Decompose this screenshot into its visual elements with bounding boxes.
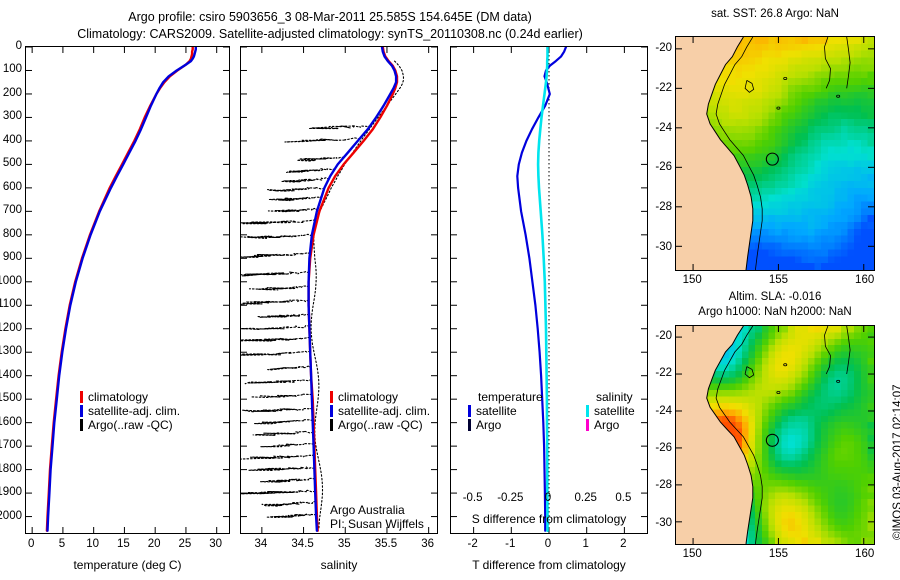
salinity-axis-label: salinity	[240, 558, 438, 572]
legend-label: satellite-adj. clim.	[88, 404, 180, 418]
s-diff-tick-1: -0.25	[497, 492, 523, 504]
sla-lat-tick-4: -28	[628, 479, 672, 491]
t-diff-tick-1: -1	[505, 538, 515, 550]
depth-tick-7: 700	[0, 204, 22, 216]
sla-lat-tick-3: -26	[628, 442, 672, 454]
depth-tick-8: 800	[0, 228, 22, 240]
temperature-tick-1: 5	[59, 538, 65, 550]
legend-swatch-icon	[330, 419, 333, 431]
legend-swatch-icon	[330, 405, 333, 417]
temperature-tick-3: 15	[117, 538, 130, 550]
temperature-tick-4: 20	[148, 538, 161, 550]
sla-map-title-line1: Altim. SLA: -0.016	[660, 291, 890, 303]
sst-lat-tick-3: -26	[628, 161, 672, 173]
sla-lon-tick-0: 150	[683, 548, 702, 560]
t-diff-tick-2: 0	[545, 538, 551, 550]
t-diff-tick-0: -2	[467, 538, 477, 550]
s-difference-axis-label: S difference from climatology	[450, 512, 648, 526]
legend-swatch-icon	[80, 391, 83, 403]
legend-label: satellite-adj. clim.	[338, 404, 430, 418]
depth-tick-5: 500	[0, 157, 22, 169]
salinity-tick-3: 35.5	[375, 538, 397, 550]
sla-map-title-line2: Argo h1000: NaN h2000: NaN	[660, 306, 890, 318]
sla-lat-tick-2: -24	[628, 405, 672, 417]
depth-tick-18: 1800	[0, 463, 22, 475]
legend-swatch-icon	[80, 419, 83, 431]
t-diff-tick-3: 1	[582, 538, 588, 550]
sst-lat-tick-1: -22	[628, 82, 672, 94]
legend-label: Argo	[476, 418, 501, 432]
sst-map-title: sat. SST: 26.8 Argo: NaN	[660, 8, 890, 20]
legend-item-0: climatology	[330, 390, 430, 404]
t-difference-axis-label: T difference from climatology	[450, 558, 648, 572]
temperature-plot-area	[26, 47, 229, 533]
depth-tick-14: 1400	[0, 369, 22, 381]
s-diff-tick-4: 0.5	[615, 492, 631, 504]
legend-label: Argo(..raw -QC)	[338, 418, 423, 432]
sst-lat-tick-5: -30	[628, 241, 672, 253]
legend-swatch-icon	[330, 391, 333, 403]
sla-lon-tick-2: 160	[855, 548, 874, 560]
sla-lat-tick-5: -30	[628, 517, 672, 529]
legend-label: climatology	[338, 390, 398, 404]
legend-item-1: satellite-adj. clim.	[80, 404, 180, 418]
temperature-axis-label: temperature (deg C)	[25, 558, 230, 572]
legend-label: Argo	[594, 418, 619, 432]
legend-label: climatology	[88, 390, 148, 404]
depth-tick-15: 1500	[0, 392, 22, 404]
salinity-tick-2: 35	[338, 538, 351, 550]
sst-lon-tick-1: 155	[769, 274, 788, 286]
legend-label: Argo(..raw -QC)	[88, 418, 173, 432]
sla-lat-tick-0: -20	[628, 330, 672, 342]
depth-tick-6: 600	[0, 181, 22, 193]
legend-item-1: satellite-adj. clim.	[330, 404, 430, 418]
legend-swatch-icon	[586, 419, 589, 431]
depth-tick-20: 2000	[0, 510, 22, 522]
difference-panel	[450, 46, 648, 534]
depth-tick-16: 1600	[0, 416, 22, 428]
sla-lat-tick-1: -22	[628, 367, 672, 379]
depth-tick-0: 0	[0, 40, 22, 52]
salinity-panel	[240, 46, 438, 534]
sla-map-panel	[675, 325, 875, 545]
s-diff-tick-3: 0.25	[574, 492, 596, 504]
page-title-line2: Climatology: CARS2009. Satellite-adjuste…	[20, 27, 640, 41]
page-title-line1: Argo profile: csiro 5903656_3 08-Mar-201…	[20, 10, 640, 24]
credit-line1: Argo Australia	[330, 503, 405, 518]
salinity-legend: climatologysatellite-adj. clim.Argo(..ra…	[330, 390, 430, 432]
legend-swatch-icon	[468, 405, 471, 417]
depth-tick-12: 1200	[0, 322, 22, 334]
legend-item-2: Argo(..raw -QC)	[80, 418, 180, 432]
depth-tick-11: 1100	[0, 298, 22, 310]
sst-map-panel	[675, 36, 875, 271]
depth-tick-19: 1900	[0, 486, 22, 498]
legend-swatch-icon	[586, 405, 589, 417]
temperature-tick-6: 30	[209, 538, 222, 550]
depth-tick-1: 100	[0, 63, 22, 75]
depth-tick-4: 400	[0, 134, 22, 146]
legend-item-t-1: Argo	[468, 418, 586, 432]
s-diff-tick-2: 0	[545, 492, 551, 504]
sst-lon-tick-2: 160	[855, 274, 874, 286]
legend-item-2: Argo(..raw -QC)	[330, 418, 430, 432]
depth-tick-13: 1300	[0, 345, 22, 357]
sst-lon-tick-0: 150	[683, 274, 702, 286]
s-diff-tick-0: -0.5	[463, 492, 483, 504]
temperature-tick-0: 0	[28, 538, 34, 550]
sst-lat-tick-4: -28	[628, 201, 672, 213]
temperature-tick-2: 10	[86, 538, 99, 550]
temperature-tick-5: 25	[179, 538, 192, 550]
copyright-label: ©IMOS 03-Aug-2017 02:14:07	[892, 384, 900, 540]
legend-swatch-icon	[80, 405, 83, 417]
sst-map-area	[676, 37, 874, 270]
credit-line2: PI: Susan Wijffels	[330, 517, 424, 532]
salinity-tick-0: 34	[254, 538, 267, 550]
legend-item-t-0: satellite	[468, 404, 586, 418]
depth-tick-9: 900	[0, 251, 22, 263]
t-diff-tick-4: 2	[620, 538, 626, 550]
legend-label: satellite	[476, 404, 517, 418]
depth-tick-2: 200	[0, 87, 22, 99]
salinity-plot-area	[241, 47, 437, 533]
legend-header-temperature: temperature	[468, 390, 586, 404]
depth-tick-10: 1000	[0, 275, 22, 287]
salinity-tick-1: 34.5	[291, 538, 313, 550]
sst-lat-tick-0: -20	[628, 42, 672, 54]
depth-tick-3: 300	[0, 110, 22, 122]
depth-tick-17: 1700	[0, 439, 22, 451]
temperature-panel	[25, 46, 230, 534]
legend-swatch-icon	[468, 419, 471, 431]
difference-plot-area	[451, 47, 647, 533]
sla-map-area	[676, 326, 874, 544]
salinity-tick-4: 36	[421, 538, 434, 550]
sst-lat-tick-2: -24	[628, 122, 672, 134]
legend-item-0: climatology	[80, 390, 180, 404]
temperature-legend: climatologysatellite-adj. clim.Argo(..ra…	[80, 390, 180, 432]
sla-lon-tick-1: 155	[769, 548, 788, 560]
